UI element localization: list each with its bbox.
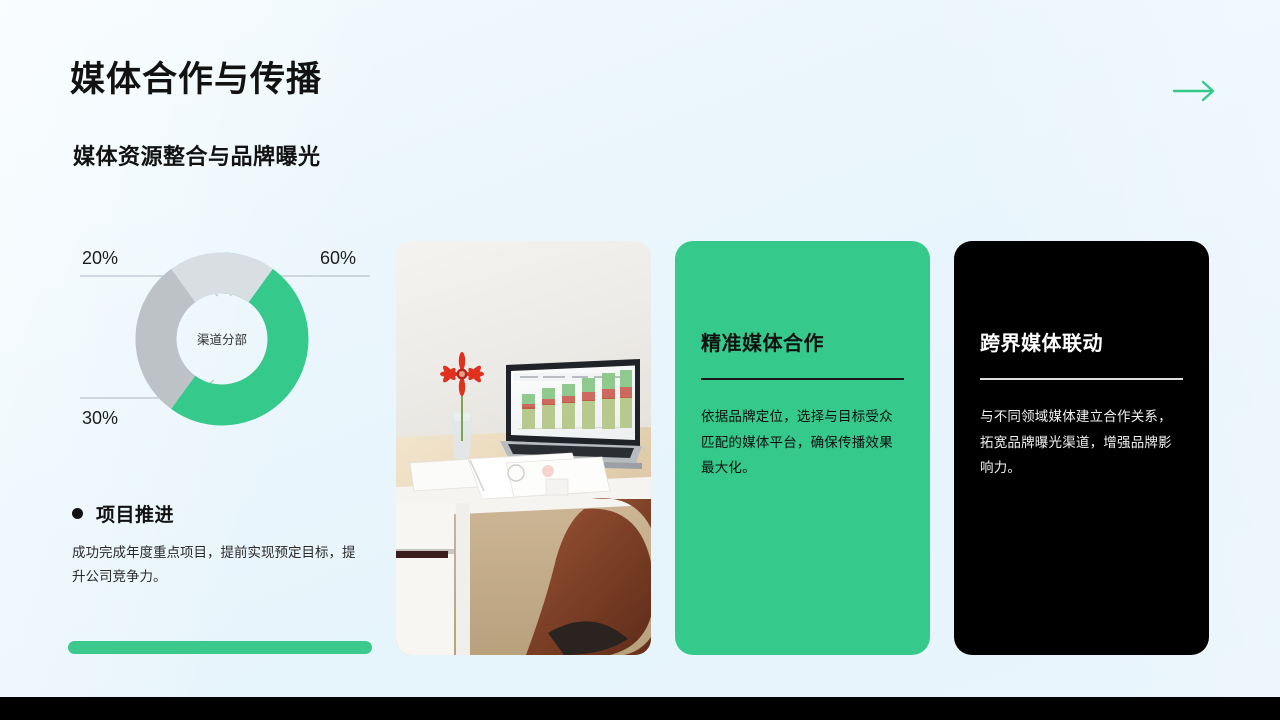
donut-center-label: 渠道分部 bbox=[197, 332, 247, 347]
donut-svg: 20% 60% 30% 渠道分部 bbox=[66, 234, 386, 459]
card-title: 跨界媒体联动 bbox=[980, 327, 1183, 356]
bullet-dot-icon bbox=[72, 508, 83, 519]
card-body: 与不同领域媒体建立合作关系，拓宽品牌曝光渠道，增强品牌影响力。 bbox=[980, 404, 1183, 481]
accent-rule bbox=[68, 641, 372, 654]
card-divider bbox=[980, 378, 1183, 380]
card-body: 依据品牌定位，选择与目标受众匹配的媒体平台，确保传播效果最大化。 bbox=[701, 404, 904, 481]
card-divider bbox=[701, 378, 904, 380]
card-cross-border-media-linkage[interactable]: 跨界媒体联动 与不同领域媒体建立合作关系，拓宽品牌曝光渠道，增强品牌影响力。 bbox=[954, 241, 1209, 655]
slide-root: 媒体合作与传播 媒体资源整合与品牌曝光 bbox=[0, 0, 1280, 720]
page-subtitle: 媒体资源整合与品牌曝光 bbox=[73, 139, 321, 171]
highlight-title: 项目推进 bbox=[96, 500, 174, 527]
donut-label-20: 20% bbox=[82, 248, 118, 268]
card-precise-media-cooperation[interactable]: 精准媒体合作 依据品牌定位，选择与目标受众匹配的媒体平台，确保传播效果最大化。 bbox=[675, 241, 930, 655]
donut-label-60: 60% bbox=[320, 248, 356, 268]
donut-label-30: 30% bbox=[82, 408, 118, 428]
highlight-block: 项目推进 成功完成年度重点项目，提前实现预定目标，提升公司竞争力。 bbox=[72, 500, 372, 588]
card-title: 精准媒体合作 bbox=[701, 327, 904, 356]
channel-distribution-donut-chart: 20% 60% 30% 渠道分部 bbox=[66, 234, 386, 459]
card-content: 跨界媒体联动 与不同领域媒体建立合作关系，拓宽品牌曝光渠道，增强品牌影响力。 bbox=[980, 327, 1183, 481]
desk-workspace-photo bbox=[396, 241, 651, 655]
highlight-body: 成功完成年度重点项目，提前实现预定目标，提升公司竞争力。 bbox=[72, 541, 357, 588]
bottom-bar bbox=[0, 697, 1280, 720]
card-content: 精准媒体合作 依据品牌定位，选择与目标受众匹配的媒体平台，确保传播效果最大化。 bbox=[701, 327, 904, 481]
highlight-heading: 项目推进 bbox=[72, 500, 372, 527]
page-title: 媒体合作与传播 bbox=[70, 58, 322, 102]
arrow-right-icon[interactable] bbox=[1172, 74, 1218, 108]
